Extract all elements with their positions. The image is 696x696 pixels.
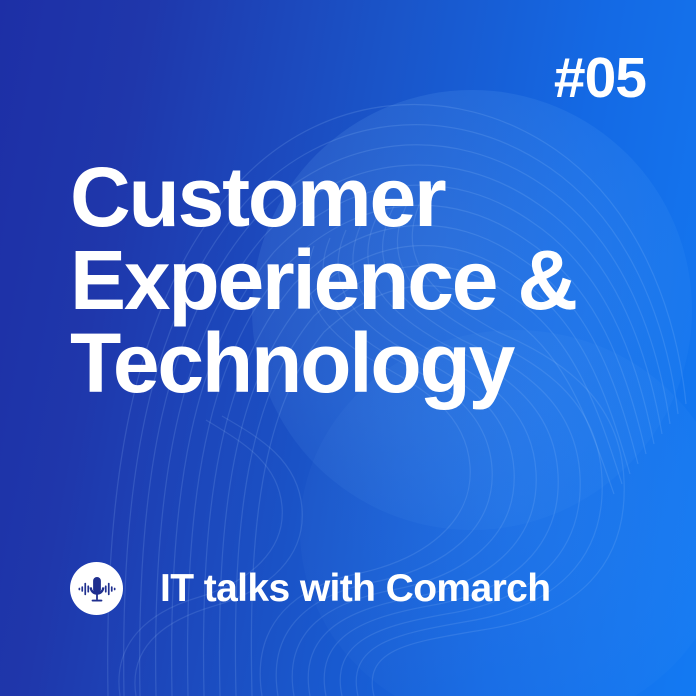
title-line-3: Technology (70, 322, 670, 405)
microphone-icon (70, 562, 123, 615)
episode-number-badge: #05 (554, 50, 646, 107)
title-line-2: Experience & (70, 239, 670, 322)
podcast-series-name: IT talks with Comarch (160, 569, 550, 608)
title-line-1: Customer (70, 156, 670, 239)
cover-title: Customer Experience & Technology (70, 156, 670, 405)
podcast-branding: IT talks with Comarch (70, 562, 550, 615)
podcast-cover-art: #05 Customer Experience & Technology (0, 0, 696, 696)
